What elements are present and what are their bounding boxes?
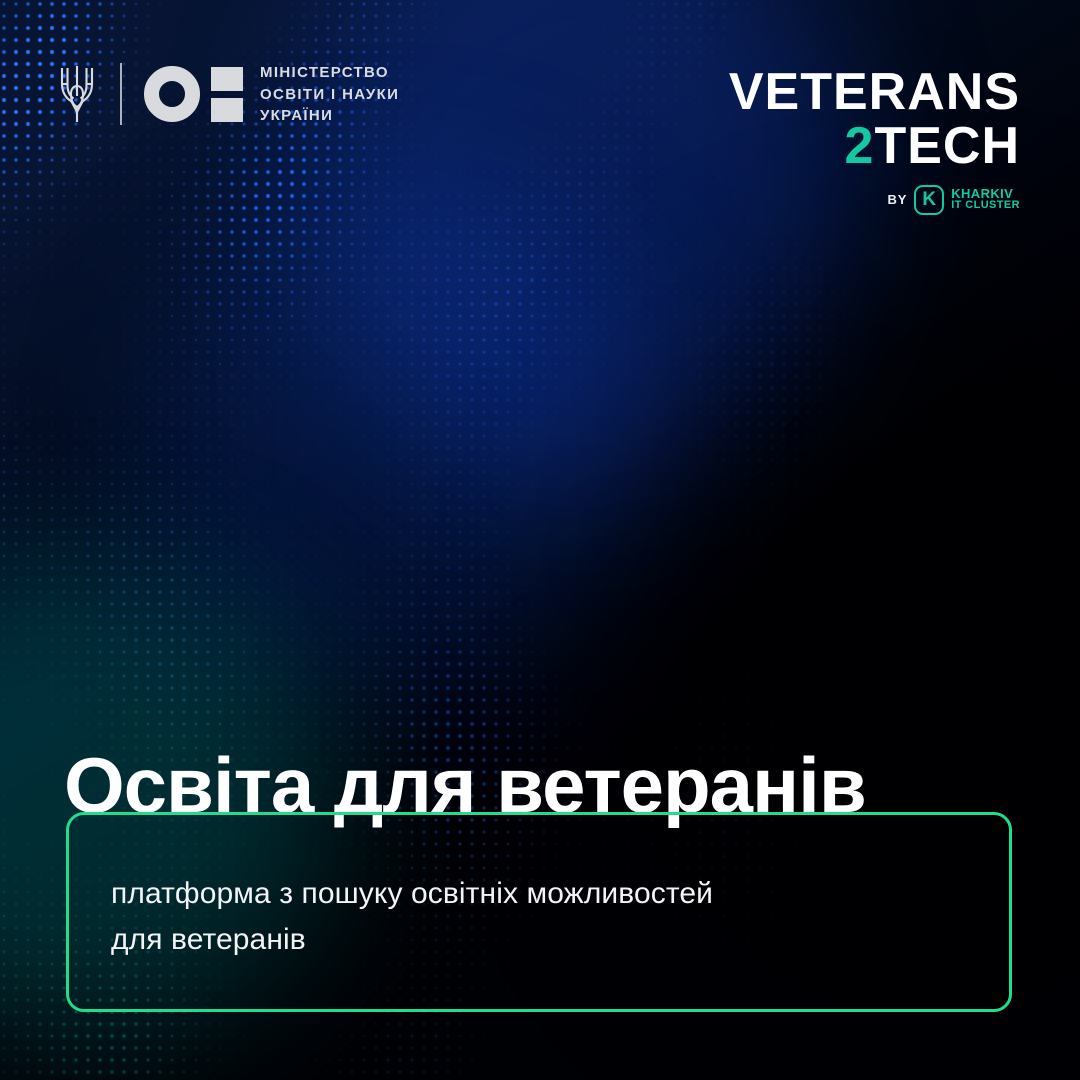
kharkiv-it-cluster-k-icon: K	[914, 185, 944, 215]
mon-ring-shape	[144, 66, 200, 122]
partner-name: KHARKIV IT CLUSTER	[951, 188, 1020, 211]
veterans2tech-logo: VETERANS 2TECH BY K KHARKIV IT CLUSTER	[729, 68, 1020, 215]
mon-bars-shape	[211, 67, 243, 122]
poster-canvas: МІНІСТЕРСТВО ОСВІТИ І НАУКИ УКРАЇНИ VETE…	[0, 0, 1080, 1080]
by-label: BY	[888, 192, 908, 207]
subtitle-text: платформа з пошуку освітніх можливостей …	[111, 871, 713, 963]
ministry-logo: МІНІСТЕРСТВО ОСВІТИ І НАУКИ УКРАЇНИ	[58, 62, 399, 127]
brand-tech-word: TECH	[874, 117, 1020, 175]
ministry-name: МІНІСТЕРСТВО ОСВІТИ І НАУКИ УКРАЇНИ	[260, 62, 399, 127]
subtitle-box: платформа з пошуку освітніх можливостей …	[66, 812, 1012, 1012]
partner-credit: BY K KHARKIV IT CLUSTER	[729, 185, 1020, 215]
partner-name-line2: IT CLUSTER	[951, 200, 1020, 212]
brand-veterans-text: VETERANS	[729, 68, 1020, 118]
logo-divider	[120, 63, 122, 125]
ukraine-trident-icon	[58, 64, 96, 124]
brand-2tech-text: 2TECH	[729, 122, 1020, 172]
mon-ukraine-logo-icon	[144, 66, 243, 122]
brand-number-2: 2	[845, 117, 875, 175]
